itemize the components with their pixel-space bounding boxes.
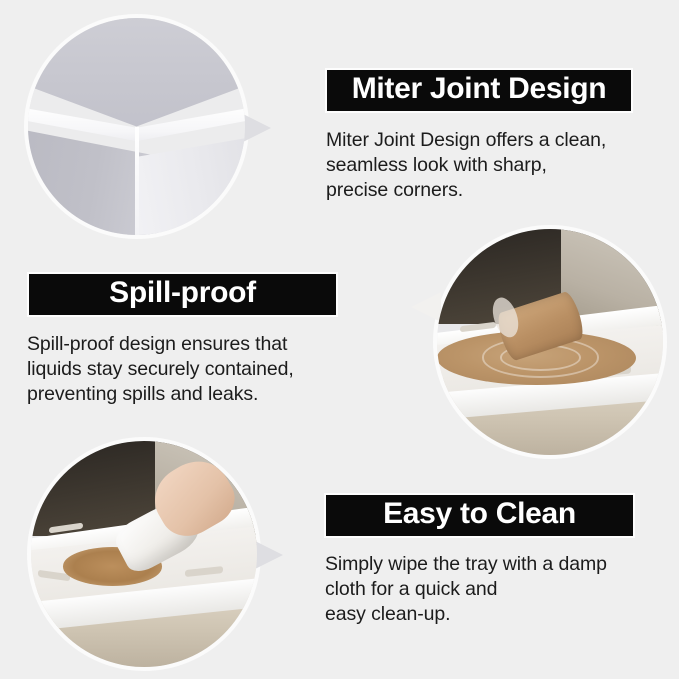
miter-joint-seam xyxy=(135,127,138,236)
tray-right-side-panel xyxy=(137,131,246,235)
heading-bar-spill-proof: Spill-proof xyxy=(27,272,338,317)
body-text-miter-joint: Miter Joint Design offers a clean, seaml… xyxy=(326,128,671,203)
bubble-tail-right-icon xyxy=(253,540,283,570)
easy-to-clean-photo xyxy=(31,441,257,667)
infographic-canvas: Miter Joint Design Miter Joint Design of… xyxy=(0,0,679,679)
miter-joint-illustration xyxy=(28,18,245,235)
feature-image-miter-joint xyxy=(28,18,245,235)
feature-image-easy-to-clean xyxy=(31,441,257,667)
heading-label-miter-joint: Miter Joint Design xyxy=(352,74,607,107)
heading-label-easy-to-clean: Easy to Clean xyxy=(383,499,576,532)
feature-image-clip xyxy=(28,18,245,235)
feature-image-clip xyxy=(31,441,257,667)
heading-bar-miter-joint: Miter Joint Design xyxy=(325,68,633,113)
tray-top-surface xyxy=(28,18,245,127)
body-text-spill-proof: Spill-proof design ensures that liquids … xyxy=(27,332,372,407)
heading-label-spill-proof: Spill-proof xyxy=(109,278,256,311)
feature-image-spill-proof xyxy=(437,229,663,455)
spill-proof-photo xyxy=(437,229,663,455)
heading-bar-easy-to-clean: Easy to Clean xyxy=(324,493,635,538)
feature-image-clip xyxy=(437,229,663,455)
bubble-tail-right-icon xyxy=(241,113,271,143)
body-text-easy-to-clean: Simply wipe the tray with a damp cloth f… xyxy=(325,552,675,627)
